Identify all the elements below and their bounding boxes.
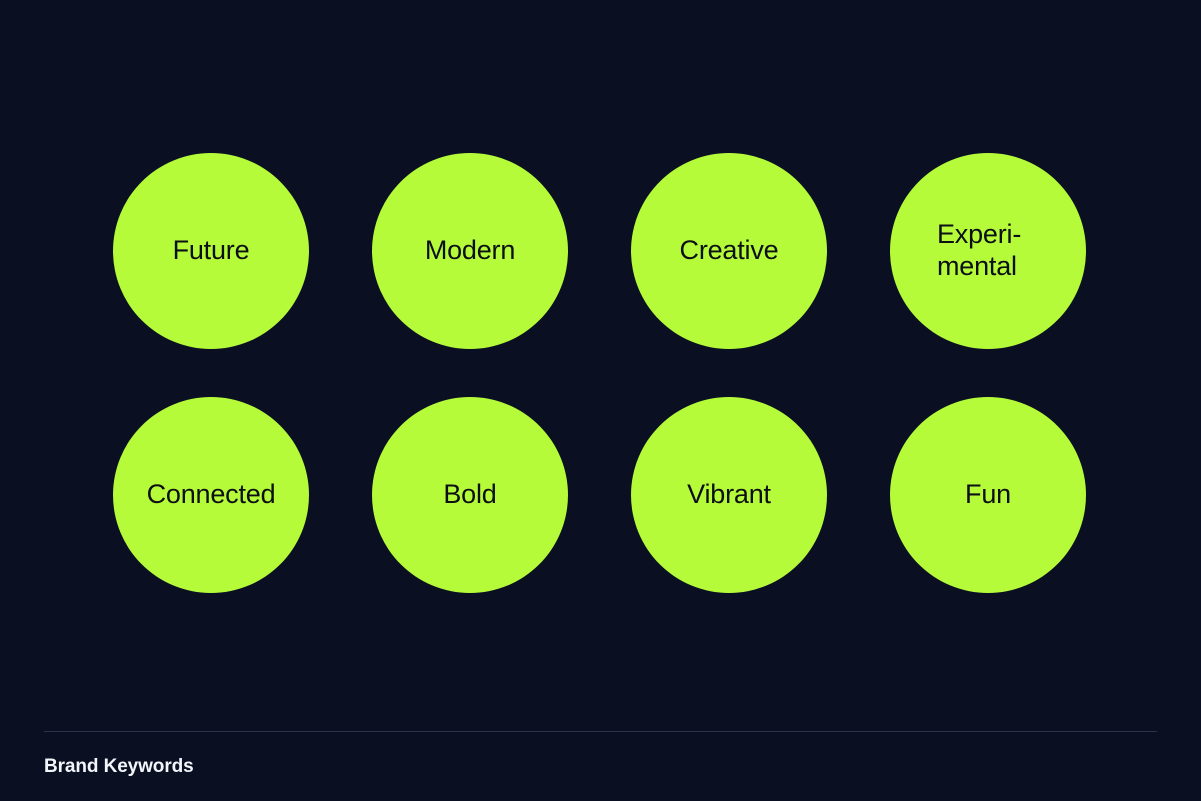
keyword-bubble-connected[interactable]: Connected [113,397,309,593]
keyword-bubble-future[interactable]: Future [113,153,309,349]
keyword-label: Bold [443,479,496,511]
footer-divider [44,731,1157,732]
keyword-label: Creative [680,235,779,267]
keyword-label: Future [173,235,250,267]
keyword-bubble-experimental[interactable]: Experi- mental [890,153,1086,349]
keyword-bubble-creative[interactable]: Creative [631,153,827,349]
keyword-bubble-bold[interactable]: Bold [372,397,568,593]
keyword-label: Modern [425,235,515,267]
page-title: Brand Keywords [44,756,1157,778]
keyword-bubble-modern[interactable]: Modern [372,153,568,349]
keyword-bubble-grid: Future Modern Creative Experi- mental Co… [113,153,1087,593]
keyword-bubble-vibrant[interactable]: Vibrant [631,397,827,593]
brand-keywords-slide: Future Modern Creative Experi- mental Co… [0,0,1201,801]
keyword-bubble-fun[interactable]: Fun [890,397,1086,593]
keyword-label: Connected [147,479,276,511]
keyword-label: Experi- mental [937,219,1045,282]
slide-footer: Brand Keywords [44,731,1157,778]
keyword-label: Fun [965,479,1011,511]
keyword-label: Vibrant [687,479,771,511]
